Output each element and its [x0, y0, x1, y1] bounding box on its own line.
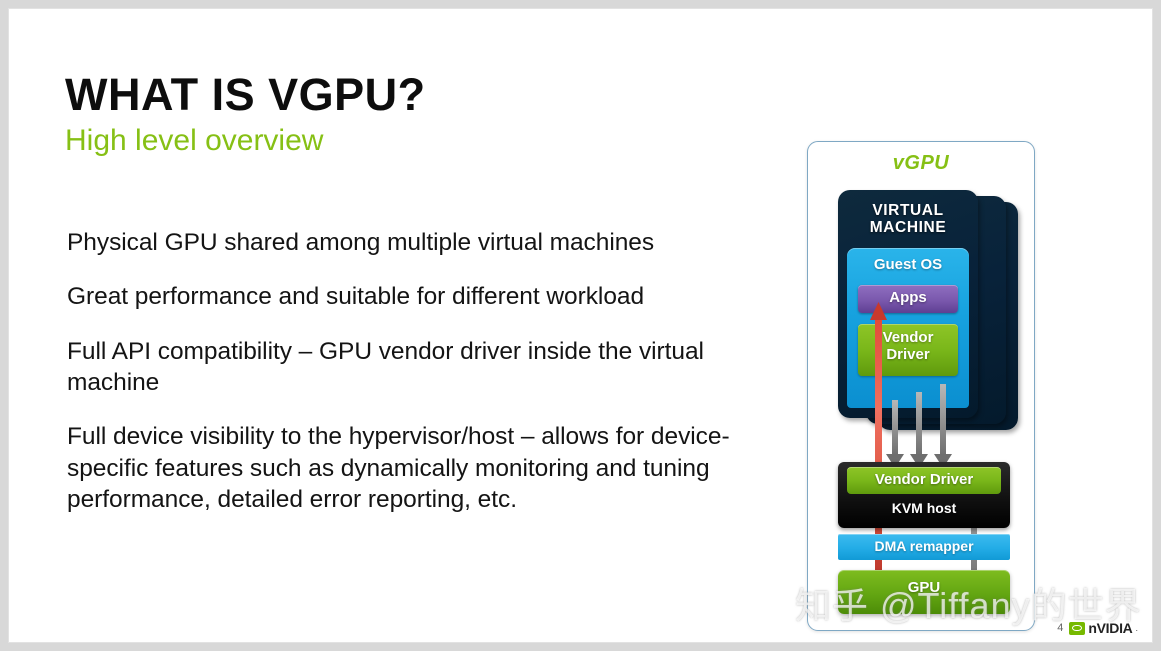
bullet-item: Great performance and suitable for diffe… [67, 281, 767, 312]
nvidia-wordmark: nVIDIA [1088, 620, 1132, 636]
gpu-box: GPU [838, 570, 1010, 614]
nvidia-logo: nVIDIA . [1069, 620, 1138, 636]
dma-remapper-label: DMA remapper [838, 538, 1010, 554]
bullet-item: Physical GPU shared among multiple virtu… [67, 227, 767, 258]
mediated-arrow-3 [934, 384, 952, 468]
gpu-label: GPU [838, 579, 1010, 596]
kvm-host-block: Vendor Driver KVM host [838, 462, 1010, 528]
mediated-arrow-1 [886, 400, 904, 468]
bullet-item: Full device visibility to the hypervisor… [67, 421, 767, 515]
mediated-arrow-2 [910, 392, 928, 468]
nvidia-eye-icon [1069, 622, 1085, 635]
title-block: WHAT IS VGPU? High level overview [65, 71, 426, 157]
nvidia-trademark: . [1135, 623, 1138, 633]
host-vendor-driver-bar: Vendor Driver [847, 467, 1001, 494]
page-title: WHAT IS VGPU? [65, 71, 426, 118]
page-subtitle: High level overview [65, 124, 426, 157]
dma-remapper-box: DMA remapper [838, 534, 1010, 560]
bullet-list: Physical GPU shared among multiple virtu… [67, 227, 767, 539]
slide-canvas: WHAT IS VGPU? High level overview Physic… [8, 8, 1153, 643]
vgpu-architecture-diagram: vGPU VIRTUAL MACHINE Guest OS Apps Vendo… [807, 141, 1035, 631]
page-number: 4 [1057, 622, 1063, 634]
kvm-host-label: KVM host [838, 500, 1010, 516]
bullet-item: Full API compatibility – GPU vendor driv… [67, 336, 767, 399]
slide-footer: 4 nVIDIA . [1057, 620, 1138, 636]
host-vendor-driver-label: Vendor Driver [847, 471, 1001, 488]
